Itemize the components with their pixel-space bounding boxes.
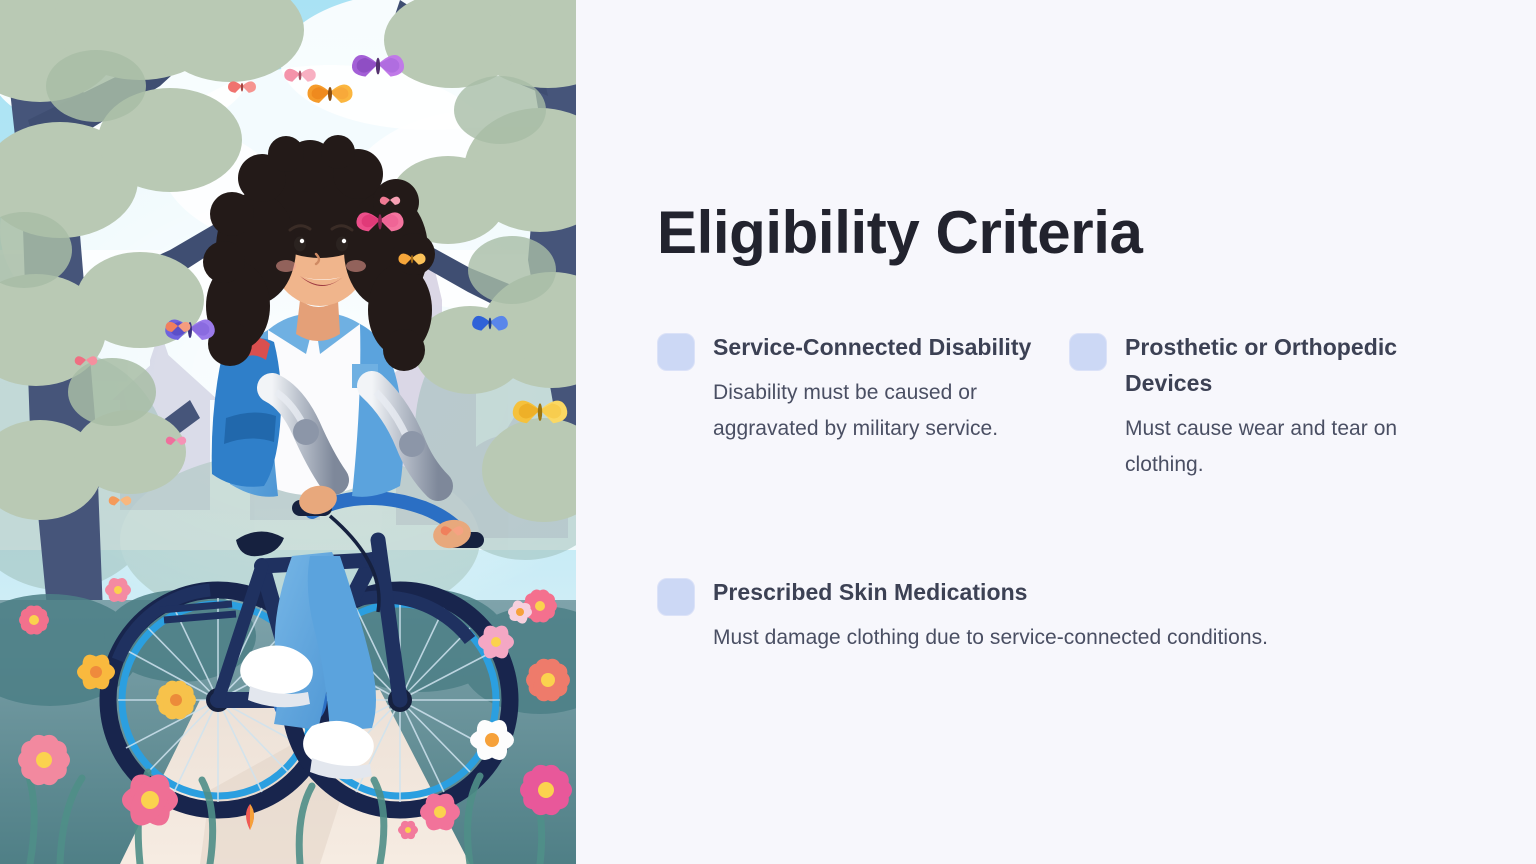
elbow-joint-right xyxy=(399,431,425,457)
slide-root: Eligibility Criteria Service-Connected D… xyxy=(0,0,1536,864)
bullet-marker-icon xyxy=(657,333,695,371)
criterion-description: Must damage clothing due to service-conn… xyxy=(713,620,1477,656)
butterfly-purple xyxy=(352,55,404,77)
criterion-description: Disability must be caused or aggravated … xyxy=(713,375,1069,447)
criteria-row-top: Service-Connected Disability Disability … xyxy=(657,330,1477,483)
criterion-body: Service-Connected Disability Disability … xyxy=(713,330,1069,447)
elbow-joint xyxy=(293,419,319,445)
butterfly-orange xyxy=(307,84,352,103)
butterfly-amber-small xyxy=(398,253,425,264)
bullet-marker-icon xyxy=(657,578,695,616)
right-shoe xyxy=(303,721,374,779)
bullet-marker-icon xyxy=(1069,333,1107,371)
criterion-item-prosthetic-or-orthopedic-devices: Prosthetic or Orthopedic Devices Must ca… xyxy=(1069,330,1477,483)
criterion-body: Prosthetic or Orthopedic Devices Must ca… xyxy=(1125,330,1477,483)
criterion-body: Prescribed Skin Medications Must damage … xyxy=(713,575,1477,656)
criterion-description: Must cause wear and tear on clothing. xyxy=(1125,411,1477,483)
criteria-row-bottom: Prescribed Skin Medications Must damage … xyxy=(657,575,1477,656)
content-panel: Eligibility Criteria Service-Connected D… xyxy=(576,0,1536,864)
criteria-list: Service-Connected Disability Disability … xyxy=(657,330,1477,656)
butterfly-yellow xyxy=(513,401,568,424)
criterion-item-prescribed-skin-medications: Prescribed Skin Medications Must damage … xyxy=(657,575,1477,656)
criterion-item-service-connected-disability: Service-Connected Disability Disability … xyxy=(657,330,1069,447)
page-title: Eligibility Criteria xyxy=(657,198,1142,269)
criterion-title: Prosthetic or Orthopedic Devices xyxy=(1125,330,1477,402)
criterion-title: Prescribed Skin Medications xyxy=(713,575,1477,611)
butterfly-pink-small xyxy=(284,69,316,82)
illustration-panel xyxy=(0,0,576,864)
butterfly-coral-small xyxy=(228,81,256,92)
left-shoe xyxy=(240,645,313,707)
cyclist-in-garden-illustration xyxy=(0,0,576,864)
criterion-title: Service-Connected Disability xyxy=(713,330,1069,366)
butterfly-magenta xyxy=(356,212,403,231)
butterfly-blue xyxy=(472,316,508,331)
